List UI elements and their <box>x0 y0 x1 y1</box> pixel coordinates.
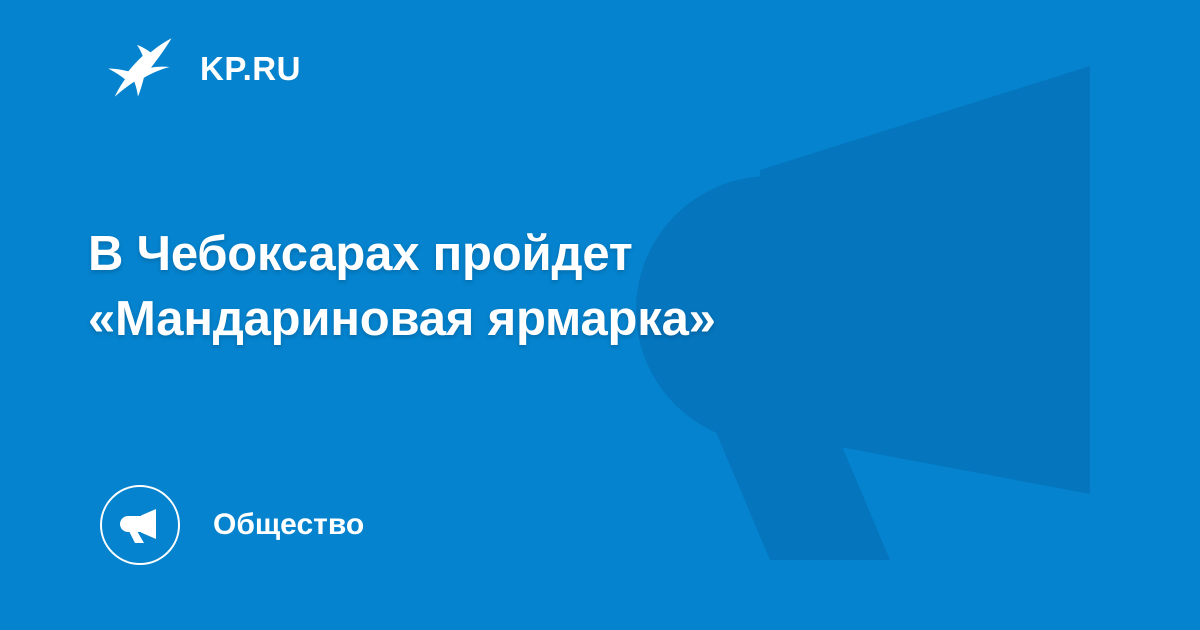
megaphone-icon <box>118 505 162 545</box>
page-title-line-1: В Чебоксарах пройдет <box>88 222 928 287</box>
brand-name: KP.RU <box>200 52 301 85</box>
category-badge[interactable]: Общество <box>100 484 364 566</box>
page-title-line-2: «Мандариновая ярмарка» <box>88 287 928 352</box>
social-share-card: KP.RU В Чебоксарах пройдет «Мандариновая… <box>0 0 1200 630</box>
category-label: Общество <box>213 510 364 540</box>
page-title: В Чебоксарах пройдет «Мандариновая ярмар… <box>88 222 928 352</box>
swallow-bird-icon <box>104 35 176 101</box>
brand-logo[interactable]: KP.RU <box>104 34 301 102</box>
category-icon-circle <box>100 485 180 565</box>
